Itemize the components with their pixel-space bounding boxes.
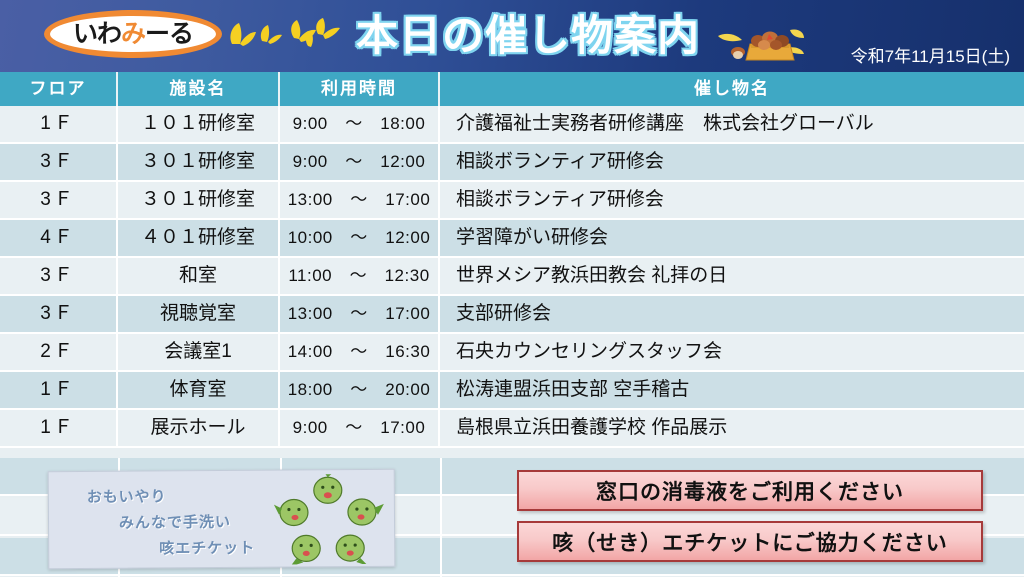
- current-date: 令和7年11月15日(土): [851, 42, 1010, 67]
- cell-facility: ３０１研修室: [118, 144, 280, 180]
- column-header-event: 催し物名: [440, 72, 1024, 106]
- cell-time: 10:00 〜 12:00: [280, 220, 440, 256]
- cell-floor: 2Ｆ: [0, 334, 118, 370]
- cell-time: 14:00 〜 16:30: [280, 334, 440, 370]
- page-title: 本日の催し物案内: [356, 6, 700, 66]
- notice-button-disinfectant[interactable]: 窓口の消毒液をご利用ください: [517, 470, 983, 511]
- table-row: 3Ｆ ３０１研修室 9:00 〜 12:00 相談ボランティア研修会: [0, 144, 1024, 182]
- cell-time: 13:00 〜 17:00: [280, 296, 440, 332]
- cell-event: 島根県立浜田養護学校 作品展示: [440, 410, 1024, 446]
- table-row: 3Ｆ 和室 11:00 〜 12:30 世界メシア教浜田教会 礼拝の日: [0, 258, 1024, 296]
- poster-line-2: みんなで手洗い: [119, 511, 231, 533]
- mushroom-basket-icon: [712, 16, 804, 64]
- cell-time: 9:00 〜 17:00: [280, 410, 440, 446]
- cell-event: 学習障がい研修会: [440, 220, 1024, 256]
- cell-time: 9:00 〜 18:00: [280, 106, 440, 142]
- cell-time: 13:00 〜 17:00: [280, 182, 440, 218]
- footer-column-divider: [440, 458, 442, 577]
- cell-facility: 体育室: [118, 372, 280, 408]
- cell-facility: 展示ホール: [118, 410, 280, 446]
- cell-floor: 1Ｆ: [0, 106, 118, 142]
- green-mascot-characters-icon: [268, 474, 389, 565]
- footer-area: おもいやり みんなで手洗い 咳エチケット: [0, 458, 1024, 577]
- cell-facility: ４０１研修室: [118, 220, 280, 256]
- table-row: 3Ｆ ３０１研修室 13:00 〜 17:00 相談ボランティア研修会: [0, 182, 1024, 220]
- table-row: 4Ｆ ４０１研修室 10:00 〜 12:00 学習障がい研修会: [0, 220, 1024, 258]
- logo-text: いわみーる: [73, 21, 193, 46]
- cell-event: 相談ボランティア研修会: [440, 182, 1024, 218]
- cell-facility: ３０１研修室: [118, 182, 280, 218]
- cell-event: 介護福祉士実務者研修講座 株式会社グローバル: [440, 106, 1024, 142]
- page-header: いわみーる 本日の催し物案内: [0, 0, 1024, 72]
- cell-floor: 1Ｆ: [0, 372, 118, 408]
- cell-facility: 視聴覚室: [118, 296, 280, 332]
- poster-line-1: おもいやり: [87, 485, 167, 507]
- cell-facility: 会議室1: [118, 334, 280, 370]
- cell-floor: 3Ｆ: [0, 258, 118, 294]
- table-row: 3Ｆ 視聴覚室 13:00 〜 17:00 支部研修会: [0, 296, 1024, 334]
- cell-time: 9:00 〜 12:00: [280, 144, 440, 180]
- cell-time: 18:00 〜 20:00: [280, 372, 440, 408]
- notice-label: 窓口の消毒液をご利用ください: [596, 476, 904, 506]
- cell-event: 世界メシア教浜田教会 礼拝の日: [440, 258, 1024, 294]
- notice-label: 咳（せき）エチケットにご協力ください: [552, 527, 948, 557]
- cell-event: 石央カウンセリングスタッフ会: [440, 334, 1024, 370]
- column-header-facility: 施設名: [118, 72, 280, 106]
- table-row: 2Ｆ 会議室1 14:00 〜 16:30 石央カウンセリングスタッフ会: [0, 334, 1024, 372]
- cell-floor: 3Ｆ: [0, 144, 118, 180]
- event-table-body: 1Ｆ １０１研修室 9:00 〜 18:00 介護福祉士実務者研修講座 株式会社…: [0, 106, 1024, 448]
- table-row: 1Ｆ １０１研修室 9:00 〜 18:00 介護福祉士実務者研修講座 株式会社…: [0, 106, 1024, 144]
- cell-floor: 3Ｆ: [0, 182, 118, 218]
- cell-floor: 4Ｆ: [0, 220, 118, 256]
- cell-facility: １０１研修室: [118, 106, 280, 142]
- cell-event: 松涛連盟浜田支部 空手稽古: [440, 372, 1024, 408]
- notice-button-cough-etiquette[interactable]: 咳（せき）エチケットにご協力ください: [517, 521, 983, 562]
- cell-event: 相談ボランティア研修会: [440, 144, 1024, 180]
- cell-facility: 和室: [118, 258, 280, 294]
- column-header-time: 利用時間: [280, 72, 440, 106]
- cell-time: 11:00 〜 12:30: [280, 258, 440, 294]
- cell-event: 支部研修会: [440, 296, 1024, 332]
- table-header-row: フロア 施設名 利用時間 催し物名: [0, 72, 1024, 106]
- table-row: 1Ｆ 体育室 18:00 〜 20:00 松涛連盟浜田支部 空手稽古: [0, 372, 1024, 410]
- table-row: 1Ｆ 展示ホール 9:00 〜 17:00 島根県立浜田養護学校 作品展示: [0, 410, 1024, 448]
- cell-floor: 1Ｆ: [0, 410, 118, 446]
- column-header-floor: フロア: [0, 72, 118, 106]
- hygiene-poster: おもいやり みんなで手洗い 咳エチケット: [48, 469, 396, 569]
- poster-line-3: 咳エチケット: [159, 537, 255, 559]
- cell-floor: 3Ｆ: [0, 296, 118, 332]
- event-board-page: いわみーる 本日の催し物案内: [0, 0, 1024, 577]
- iwamiru-logo: いわみーる: [44, 10, 222, 58]
- ginkgo-leaf-icon: [222, 14, 352, 60]
